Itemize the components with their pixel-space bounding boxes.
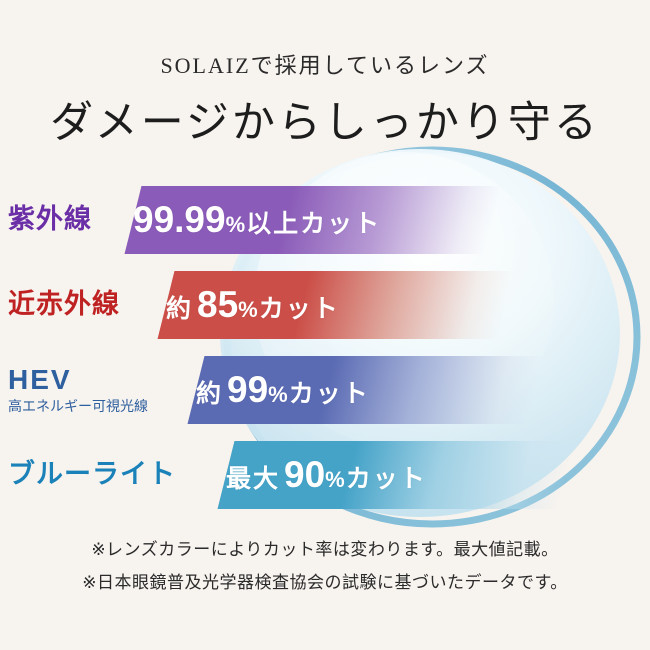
band-uv-percent: %	[226, 212, 247, 237]
band-hev-value: 約99%カット	[196, 369, 370, 411]
label-hev-text: HEV	[8, 365, 148, 396]
band-hev-number: 99	[227, 369, 268, 410]
band-hev-prefix: 約	[196, 380, 223, 408]
band-near-infrared-suffix: カット	[259, 295, 340, 323]
band-uv-number: 99.99	[133, 199, 226, 240]
label-uv: 紫外線	[8, 186, 92, 254]
band-uv-suffix: 以上カット	[246, 210, 381, 238]
band-blue-light-prefix: 最大	[226, 465, 280, 493]
band-near-infrared-value: 約85%カット	[166, 284, 340, 326]
subheading: SOLAIZで採用しているレンズ	[0, 48, 650, 80]
band-near-infrared: 約85%カット	[158, 271, 515, 339]
band-blue-light-percent: %	[325, 467, 346, 492]
band-hev: 約99%カット	[188, 356, 545, 424]
band-blue-light-value: 最大90%カット	[226, 454, 427, 496]
label-blue-light: ブルーライト	[8, 441, 176, 509]
band-hev-percent: %	[268, 382, 289, 407]
label-blue-light-text: ブルーライト	[8, 460, 176, 490]
label-hev: HEV 高エネルギー可視光線	[8, 356, 148, 424]
label-uv-text: 紫外線	[8, 205, 92, 235]
band-near-infrared-prefix: 約	[166, 295, 193, 323]
row-hev: 約99%カット HEV 高エネルギー可視光線	[0, 356, 650, 424]
footnote-2: ※日本眼鏡普及光学器検査協会の試験に基づいたデータです。	[0, 566, 650, 599]
band-hev-suffix: カット	[289, 380, 370, 408]
footnotes: ※レンズカラーによりカット率は変わります。最大値記載。 ※日本眼鏡普及光学器検査…	[0, 533, 650, 599]
infographic-canvas: SOLAIZで採用しているレンズ ダメージからしっかり守る 99.99%以上カッ…	[0, 0, 650, 650]
band-uv-value: 99.99%以上カット	[133, 199, 381, 241]
band-near-infrared-number: 85	[197, 284, 238, 325]
band-blue-light-number: 90	[284, 454, 325, 495]
label-near-infrared: 近赤外線	[8, 271, 120, 339]
row-blue-light: 最大90%カット ブルーライト	[0, 441, 650, 509]
band-blue-light-suffix: カット	[346, 465, 427, 493]
label-hev-subtitle: 高エネルギー可視光線	[8, 398, 148, 415]
band-near-infrared-percent: %	[238, 297, 259, 322]
label-near-infrared-text: 近赤外線	[8, 290, 120, 320]
band-uv: 99.99%以上カット	[125, 186, 502, 254]
band-blue-light: 最大90%カット	[218, 441, 575, 509]
row-uv: 99.99%以上カット 紫外線	[0, 186, 650, 254]
row-near-infrared: 約85%カット 近赤外線	[0, 271, 650, 339]
page-title: ダメージからしっかり守る	[0, 88, 650, 150]
footnote-1: ※レンズカラーによりカット率は変わります。最大値記載。	[0, 533, 650, 566]
